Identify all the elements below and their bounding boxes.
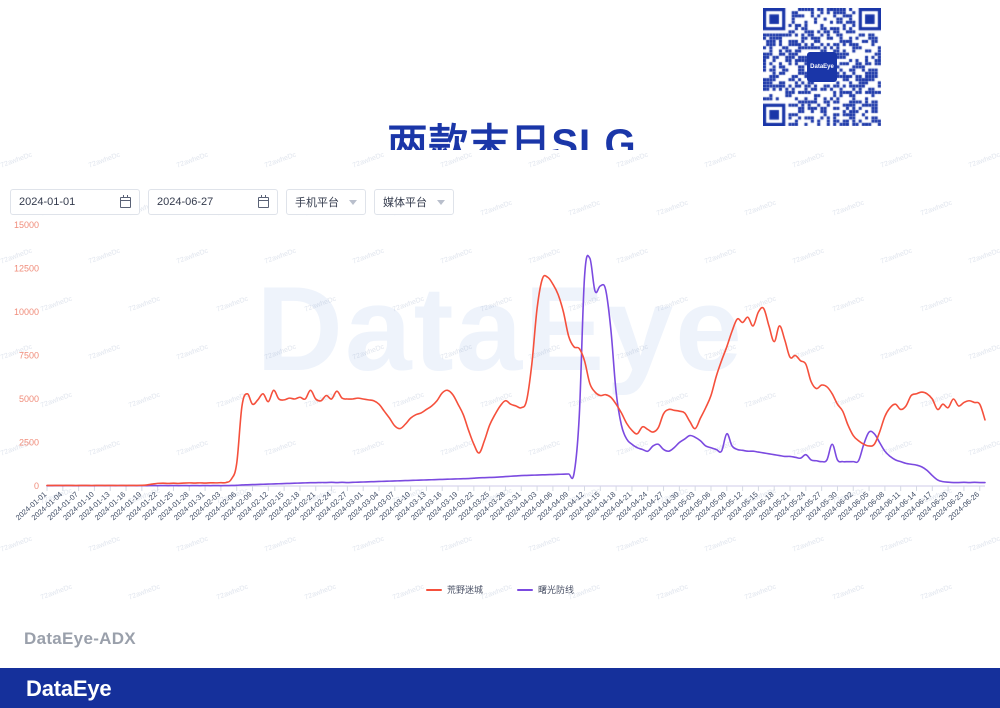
calendar-icon xyxy=(120,196,131,208)
y-axis-tick-label: 10000 xyxy=(14,307,39,317)
legend-label: 曙光防线 xyxy=(538,583,574,596)
legend-swatch xyxy=(517,589,533,591)
series-line-1 xyxy=(47,255,985,485)
media-platform-value: 媒体平台 xyxy=(383,194,427,210)
series-line-0 xyxy=(47,276,985,486)
start-date-value: 2024-01-01 xyxy=(19,196,75,208)
legend-item-series-0[interactable]: 荒野迷城 xyxy=(426,583,483,596)
brand-label: DataEye-ADX xyxy=(24,629,136,649)
qr-center-logo: DataEye xyxy=(807,52,837,82)
media-platform-select[interactable]: 媒体平台 xyxy=(374,189,454,215)
end-date-picker[interactable]: 2024-06-27 xyxy=(148,189,278,215)
y-axis-tick-label: 7500 xyxy=(19,351,39,361)
legend-label: 荒野迷城 xyxy=(447,583,483,596)
y-axis-tick-label: 2500 xyxy=(19,438,39,448)
y-axis-tick-label: 5000 xyxy=(19,394,39,404)
page-header: 两款末日SLG 素材投放趋势 DataEye xyxy=(0,0,1000,150)
y-axis-tick-label: 0 xyxy=(34,481,39,491)
start-date-picker[interactable]: 2024-01-01 xyxy=(10,189,140,215)
filter-bar: 2024-01-01 2024-06-27 手机平台 媒体平台 xyxy=(10,189,454,215)
screenshot-root: 两款末日SLG 素材投放趋势 DataEye DataEye 72awheDc7… xyxy=(0,0,1000,708)
bottom-bar: DataEye xyxy=(0,668,1000,708)
y-axis-tick-label: 12500 xyxy=(14,264,39,274)
chevron-down-icon xyxy=(437,200,445,205)
chart-panel: DataEye 72awheDc72awheDc72awheDc72awheDc… xyxy=(0,151,1000,610)
device-platform-select[interactable]: 手机平台 xyxy=(286,189,366,215)
bottom-logo: DataEye xyxy=(26,676,111,702)
legend-swatch xyxy=(426,589,442,591)
device-platform-value: 手机平台 xyxy=(295,194,339,210)
trend-chart: 02500500075001000012500150002024-01-0120… xyxy=(0,219,1000,610)
legend-item-series-1[interactable]: 曙光防线 xyxy=(517,583,574,596)
qr-code: DataEye xyxy=(763,8,881,126)
trend-chart-svg: 02500500075001000012500150002024-01-0120… xyxy=(0,219,1000,610)
chevron-down-icon xyxy=(349,200,357,205)
calendar-icon xyxy=(258,196,269,208)
end-date-value: 2024-06-27 xyxy=(157,196,213,208)
y-axis-tick-label: 15000 xyxy=(14,220,39,230)
chart-legend: 荒野迷城 曙光防线 xyxy=(0,583,1000,596)
